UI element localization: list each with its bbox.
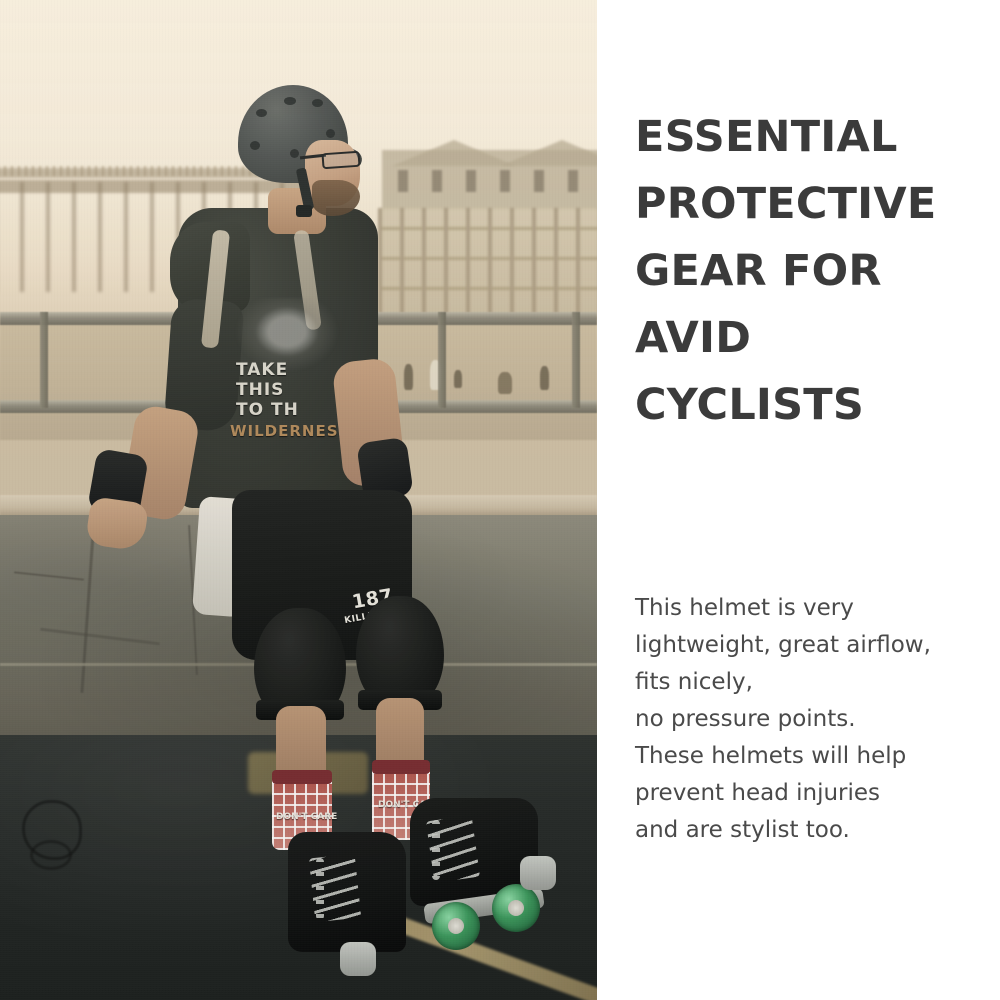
product-feature-page: TAKE THIS TO TH WILDERNESS 187 KILLER PA… [0,0,1000,1000]
body-line-1: This helmet is very [635,590,975,627]
tshirt-graphic-line-2: THIS [236,380,284,400]
skate-laces-left [309,854,361,922]
body-line-4: no pressure points. [635,701,975,738]
skater-figure: TAKE THIS TO TH WILDERNESS 187 KILLER PA… [0,0,597,1000]
skate-toe-stop-left [340,942,376,976]
product-description: This helmet is very lightweight, great a… [635,590,975,849]
headline-line-5: CYCLISTS [635,372,965,439]
body-line-7: and are stylist too. [635,812,975,849]
headline-line-3: GEAR FOR [635,238,965,305]
tshirt-graphic-line-4: WILDERNESS [230,422,350,440]
body-line-2: lightweight, great airflow, [635,627,975,664]
sock-band-left [272,770,332,784]
tshirt-graphic: TAKE THIS TO TH WILDERNESS [228,298,346,438]
sock-band-right [372,760,430,774]
sock-label-left: DON'T CARE [276,812,337,822]
copy-panel: ESSENTIAL PROTECTIVE GEAR FOR AVID CYCLI… [597,0,1000,1000]
product-lifestyle-photo: TAKE THIS TO TH WILDERNESS 187 KILLER PA… [0,0,597,1000]
left-hand [85,496,149,552]
skate-wheel [492,884,540,932]
body-line-5: These helmets will help [635,738,975,775]
skate-wheel [432,902,480,950]
body-line-3: fits nicely, [635,664,975,701]
tshirt-graphic-line-1: TAKE [236,360,288,380]
headline-line-1: ESSENTIAL [635,104,965,171]
skate-laces-right [426,815,480,883]
headline-line-4: AVID [635,305,965,372]
body-line-6: prevent head injuries [635,775,975,812]
headline-line-2: PROTECTIVE [635,171,965,238]
tshirt-graphic-line-3: TO TH [236,400,299,420]
page-title: ESSENTIAL PROTECTIVE GEAR FOR AVID CYCLI… [635,104,965,439]
glasses-icon [321,151,360,170]
skate-toe-stop-right [520,856,556,890]
helmet-buckle [296,205,312,217]
